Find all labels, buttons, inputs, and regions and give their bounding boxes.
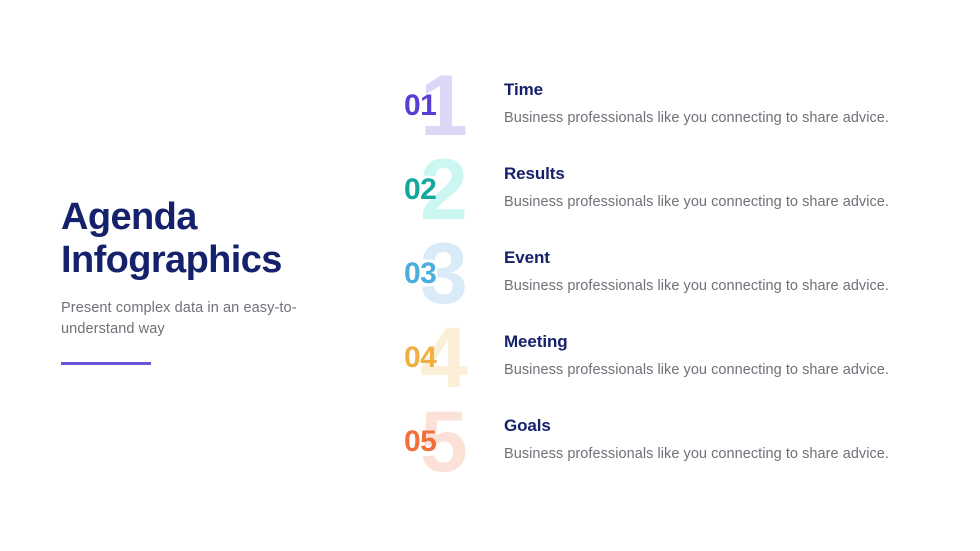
- agenda-number-03: 3 03: [396, 232, 504, 316]
- page-title-line-2: Infographics: [61, 239, 282, 281]
- agenda-number-04: 4 04: [396, 316, 504, 400]
- number-label-05: 05: [404, 427, 436, 457]
- list-item[interactable]: 3 03 Event Business professionals like y…: [396, 232, 936, 316]
- list-item-heading: Meeting: [504, 332, 936, 352]
- list-item[interactable]: 4 04 Meeting Business professionals like…: [396, 316, 936, 400]
- list-item-text: Results Business professionals like you …: [504, 148, 936, 213]
- list-item-heading: Time: [504, 80, 936, 100]
- list-item-description: Business professionals like you connecti…: [504, 445, 936, 465]
- list-item[interactable]: 5 05 Goals Business professionals like y…: [396, 400, 936, 484]
- list-item-heading: Event: [504, 248, 936, 268]
- list-item-text: Event Business professionals like you co…: [504, 232, 936, 297]
- number-label-02: 02: [404, 175, 436, 205]
- agenda-number-05: 5 05: [396, 400, 504, 484]
- page-title: Agenda Infographics: [61, 196, 361, 282]
- list-item-heading: Results: [504, 164, 936, 184]
- page-subtitle: Present complex data in an easy-to-under…: [61, 298, 301, 340]
- list-item-description: Business professionals like you connecti…: [504, 277, 936, 297]
- number-label-04: 04: [404, 343, 436, 373]
- list-item-heading: Goals: [504, 416, 936, 436]
- list-item-text: Goals Business professionals like you co…: [504, 400, 936, 465]
- list-item-description: Business professionals like you connecti…: [504, 109, 936, 129]
- list-item[interactable]: 2 02 Results Business professionals like…: [396, 148, 936, 232]
- agenda-number-02: 2 02: [396, 148, 504, 232]
- page-title-line-1: Agenda: [61, 196, 197, 238]
- slide-canvas: Agenda Infographics Present complex data…: [0, 0, 980, 551]
- list-item-description: Business professionals like you connecti…: [504, 361, 936, 381]
- number-label-01: 01: [404, 91, 436, 121]
- agenda-number-01: 1 01: [396, 64, 504, 148]
- list-item[interactable]: 1 01 Time Business professionals like yo…: [396, 64, 936, 148]
- intro-block: Agenda Infographics Present complex data…: [61, 196, 361, 365]
- accent-divider: [61, 362, 151, 365]
- agenda-list: 1 01 Time Business professionals like yo…: [396, 64, 936, 484]
- list-item-text: Time Business professionals like you con…: [504, 64, 936, 129]
- number-label-03: 03: [404, 259, 436, 289]
- list-item-description: Business professionals like you connecti…: [504, 193, 936, 213]
- list-item-text: Meeting Business professionals like you …: [504, 316, 936, 381]
